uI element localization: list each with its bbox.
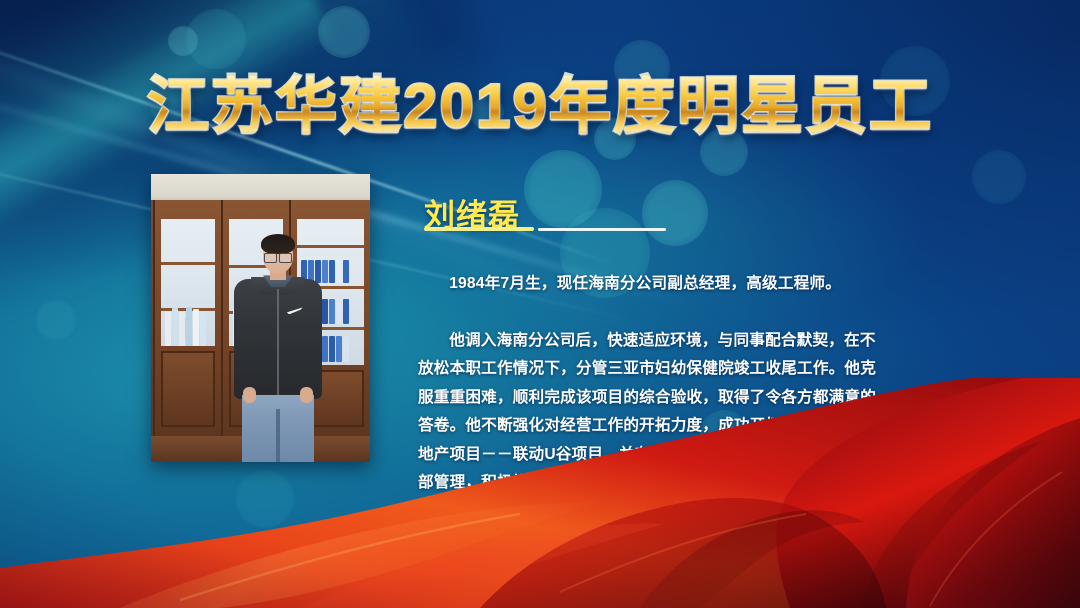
person-hand-right <box>300 387 313 403</box>
name-underline-yellow <box>424 227 534 231</box>
glasses-icon <box>264 253 292 261</box>
employee-photo <box>151 174 370 462</box>
bio-paragraph-2: 他调入海南分公司后，快速适应环境，与同事配合默契，在不放松本职工作情况下，分管三… <box>418 327 890 527</box>
photo-person <box>234 237 322 462</box>
name-underline-white <box>538 228 666 231</box>
bio-paragraph-1: 1984年7月生，现任海南分公司副总经理，高级工程师。 <box>418 270 890 299</box>
person-hand-left <box>243 387 256 403</box>
person-hair <box>261 234 295 254</box>
person-zipper <box>277 289 279 395</box>
poster-canvas: 江苏华建2019年度明星员工 江苏华建2019年度明星员工 <box>0 0 1080 608</box>
poster-title: 江苏华建2019年度明星员工 <box>0 76 1080 138</box>
photo-bookcase <box>153 200 223 436</box>
employee-bio: 1984年7月生，现任海南分公司副总经理，高级工程师。 他调入海南分公司后，快速… <box>418 241 890 555</box>
person-jeans-seam <box>276 409 280 462</box>
